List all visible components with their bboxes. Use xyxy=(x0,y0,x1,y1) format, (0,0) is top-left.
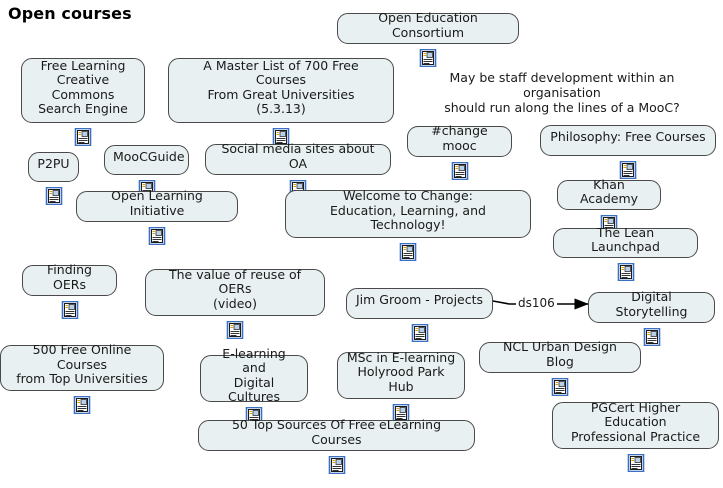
note-mooc-staff-development: May be staff development within an organ… xyxy=(412,70,712,115)
document-icon[interactable] xyxy=(643,313,661,331)
node-label: P2PU xyxy=(37,157,70,172)
node-label: PGCert Higher Education Professional Pra… xyxy=(561,401,710,445)
node-500-free-online-courses[interactable]: 500 Free Online Courses from Top Univers… xyxy=(0,345,164,391)
node-label: Welcome to Change: Education, Learning, … xyxy=(294,189,522,233)
node-label: MSc in E-learning Holyrood Park Hub xyxy=(346,351,456,395)
node-label: A Master List of 700 Free Courses From G… xyxy=(177,59,385,117)
node-khan-academy[interactable]: Khan Academy xyxy=(557,180,661,210)
node-msc-in-e-learning-holyrood-park-hub[interactable]: MSc in E-learning Holyrood Park Hub xyxy=(337,352,465,399)
node-free-learning-creative-commons-search-engine[interactable]: Free Learning Creative Commons Search En… xyxy=(21,58,145,123)
edge-label-ds106: ds106 xyxy=(516,296,557,310)
document-icon[interactable] xyxy=(61,286,79,304)
document-icon[interactable] xyxy=(45,172,63,190)
node-welcome-to-change[interactable]: Welcome to Change: Education, Learning, … xyxy=(285,190,531,238)
node-finding-oers[interactable]: Finding OERs xyxy=(22,265,117,296)
document-icon[interactable] xyxy=(148,212,166,230)
document-icon[interactable] xyxy=(617,248,635,266)
node-jim-groom-projects[interactable]: Jim Groom - Projects xyxy=(346,288,493,319)
document-icon[interactable] xyxy=(451,147,469,165)
document-icon[interactable] xyxy=(226,306,244,324)
node-label: The value of reuse of OERs (video) xyxy=(154,268,316,312)
concept-map-canvas: Open courses ds106 May be staff developm… xyxy=(0,0,723,463)
node-p2pu[interactable]: P2PU xyxy=(28,152,79,182)
node-value-of-reuse-of-oers[interactable]: The value of reuse of OERs (video) xyxy=(145,269,325,316)
document-icon[interactable] xyxy=(272,113,290,131)
node-label: Jim Groom - Projects xyxy=(355,293,484,308)
node-digital-storytelling[interactable]: Digital Storytelling xyxy=(588,292,715,323)
node-social-media-sites-about-oa[interactable]: Social media sites about OA xyxy=(205,144,391,175)
document-icon[interactable] xyxy=(138,165,156,183)
node-open-learning-initiative[interactable]: Open Learning Initiative xyxy=(76,191,238,222)
document-icon[interactable] xyxy=(399,228,417,246)
node-pgcert-higher-education[interactable]: PGCert Higher Education Professional Pra… xyxy=(552,402,719,449)
node-change-mooc[interactable]: #change mooc xyxy=(407,126,512,157)
document-icon[interactable] xyxy=(74,113,92,131)
document-icon[interactable] xyxy=(419,34,437,52)
document-icon[interactable] xyxy=(73,381,91,399)
node-open-education-consortium[interactable]: Open Education Consortium xyxy=(337,13,519,44)
document-icon[interactable] xyxy=(619,146,637,164)
document-icon[interactable] xyxy=(551,363,569,381)
node-label: Philosophy: Free Courses xyxy=(549,130,707,145)
document-icon[interactable] xyxy=(392,389,410,407)
node-label: MooCGuide xyxy=(113,150,180,165)
document-icon[interactable] xyxy=(627,439,645,457)
node-moocguide[interactable]: MooCGuide xyxy=(104,145,189,175)
node-the-lean-launchpad[interactable]: The Lean Launchpad xyxy=(553,228,698,258)
document-icon[interactable] xyxy=(411,309,429,327)
page-title: Open courses xyxy=(8,4,132,23)
document-icon[interactable] xyxy=(328,441,346,459)
node-label: Free Learning Creative Commons Search En… xyxy=(30,59,136,117)
document-icon[interactable] xyxy=(289,165,307,183)
node-philosophy-free-courses[interactable]: Philosophy: Free Courses xyxy=(540,125,716,156)
node-50-top-sources-free-elearning-courses[interactable]: 50 Top Sources Of Free eLearning Courses xyxy=(198,420,475,451)
document-icon[interactable] xyxy=(245,392,263,410)
node-ncl-urban-design-blog[interactable]: NCL Urban Design Blog xyxy=(479,342,641,373)
document-icon[interactable] xyxy=(600,200,618,218)
node-e-learning-and-digital-cultures[interactable]: E-learning and Digital Cultures xyxy=(200,355,308,402)
node-master-list-700-free-courses[interactable]: A Master List of 700 Free Courses From G… xyxy=(168,58,394,123)
